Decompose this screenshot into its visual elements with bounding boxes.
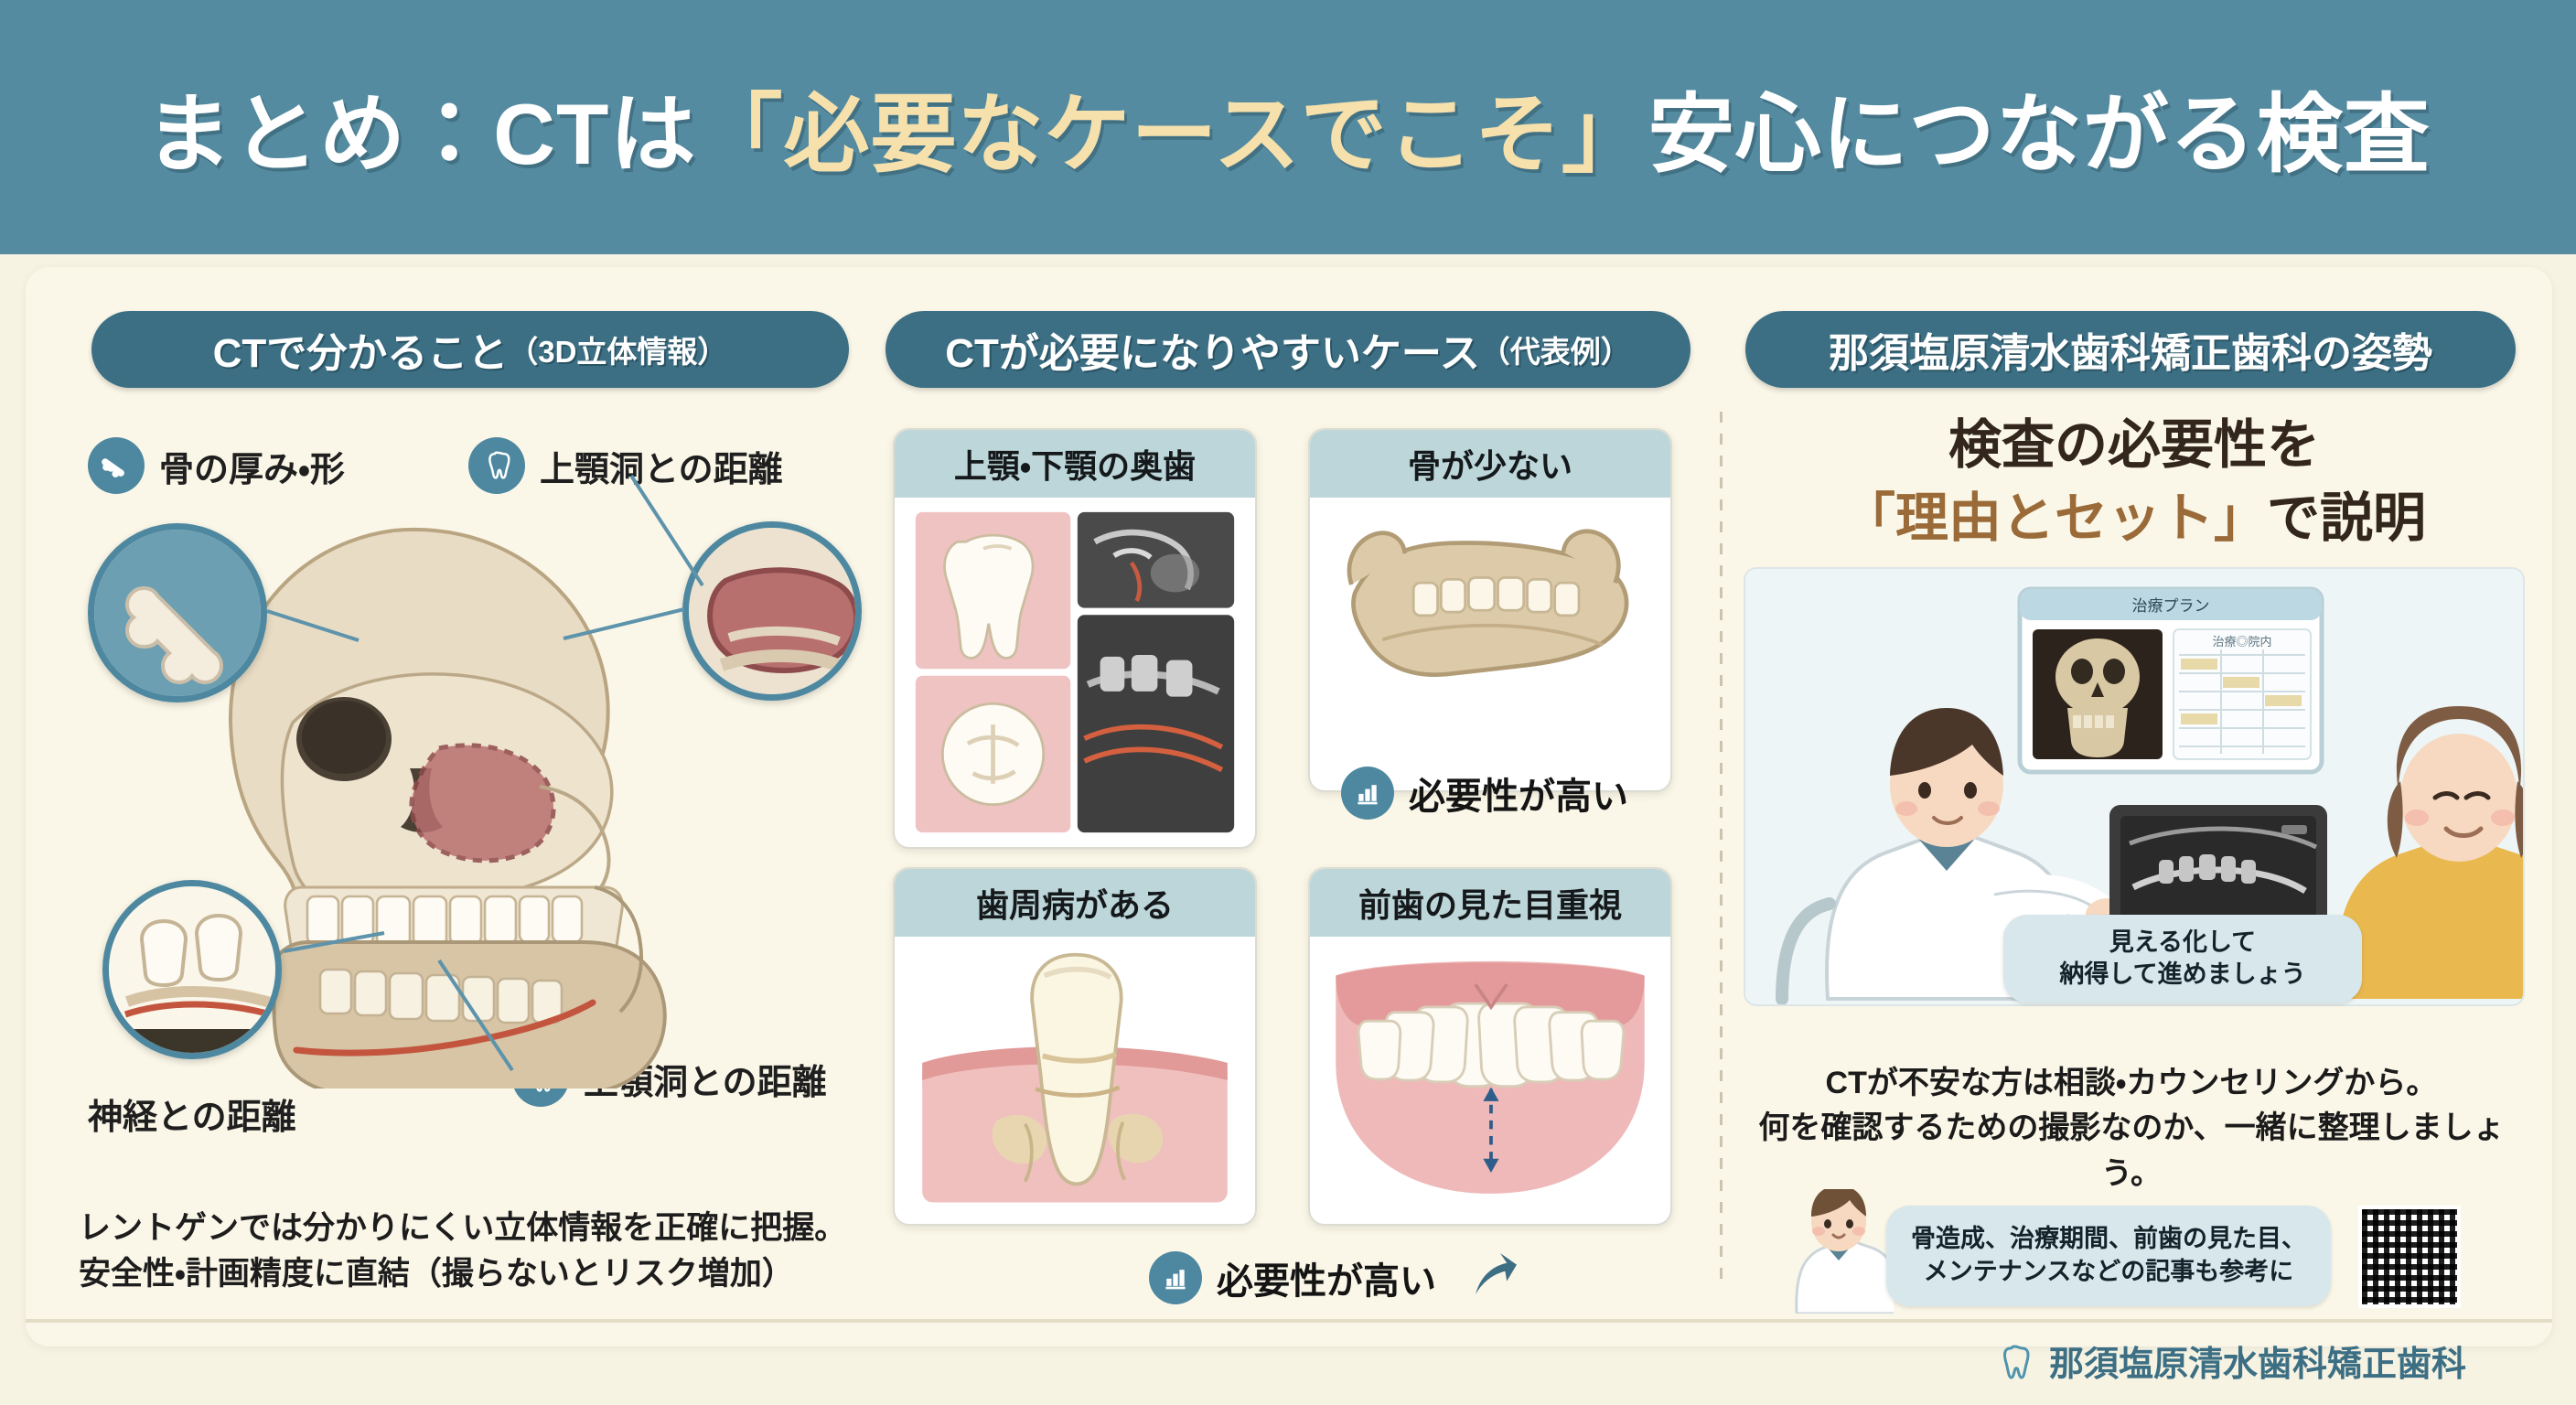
case-card-front-teeth-art: [1310, 937, 1670, 1224]
case-card-periodontal-header: 歯周病がある: [895, 869, 1255, 937]
right-headline-line-2: 「理由とセット」で説明: [1745, 487, 2523, 551]
section-header-left-sub: （3D立体情報）: [508, 327, 727, 371]
left-footer-note: レントゲンでは分かりにくい立体情報を正確に把握。 安全性・計画精度に直結（撮らな…: [79, 1206, 957, 1296]
right-headline-quote: 「理由とセット」: [1842, 488, 2267, 548]
case-card-periodontal-art: [895, 937, 1255, 1224]
section-header-middle-main: CTが必要になりやすいケース: [945, 320, 1479, 379]
qr-code-icon[interactable]: [2358, 1206, 2461, 1308]
case-card-molar-art: [895, 498, 1255, 847]
need-indicator-low-bone: 必要性が高い: [1341, 767, 1628, 820]
case-card-molar-title: 上顎・下顎の奥歯: [954, 440, 1196, 488]
callout-nerve-cross-section: [102, 880, 282, 1059]
label-nerve-distance: 神経との距離: [88, 1089, 296, 1139]
arrow-up-icon: [1467, 1253, 1517, 1303]
bar-chart-icon: [1149, 1251, 1202, 1304]
callout-bone-cross-section: [88, 523, 267, 702]
note-line-2: メンテナンスなどの記事も参考に: [1911, 1256, 2306, 1289]
right-headline-tail: で説明: [2267, 488, 2426, 548]
header-title: まとめ：CTは 「必要なケースでこそ」 安心につながる検査: [145, 65, 2431, 189]
need-indicator-front-teeth: 必要性が高い: [1149, 1251, 1517, 1304]
label-sinus-distance-top-text: 上顎洞との距離: [540, 441, 783, 491]
section-header-left-main: CTで分かること: [213, 320, 509, 379]
tooth-logo-icon: [1994, 1341, 2034, 1381]
brand-name: 那須塩原清水歯科矯正歯科: [2049, 1335, 2466, 1386]
tablet-col-label: 治療◎院内: [2212, 635, 2271, 649]
bar-chart-icon: [1341, 767, 1394, 820]
right-footer-line-1: CTが不安な方は相談・カウンセリングから。: [1729, 1061, 2534, 1106]
right-footer-note: CTが不安な方は相談・カウンセリングから。 何を確認するための撮影なのか、一緒に…: [1729, 1061, 2534, 1196]
section-header-right-main: 那須塩原清水歯科矯正歯科の姿勢: [1829, 320, 2432, 379]
title-part-2: 安心につながる検査: [1648, 65, 2431, 189]
section-header-right: 那須塩原清水歯科矯正歯科の姿勢: [1745, 311, 2516, 388]
page-header: まとめ：CTは 「必要なケースでこそ」 安心につながる検査: [0, 0, 2576, 254]
case-card-low-bone-title: 骨が少ない: [1408, 440, 1572, 488]
case-card-molar-header: 上顎・下顎の奥歯: [895, 430, 1255, 498]
right-headline-line-1: 検査の必要性を: [1745, 413, 2523, 477]
case-card-front-teeth[interactable]: 前歯の見た目重視: [1308, 867, 1672, 1226]
case-card-periodontal-title: 歯周病がある: [976, 879, 1174, 927]
label-sinus-distance-top: 上顎洞との距離: [468, 437, 783, 494]
title-highlight: 「必要なケースでこそ」: [696, 65, 1648, 189]
right-headline: 検査の必要性を 「理由とセット」で説明: [1745, 413, 2523, 550]
case-card-low-bone-header: 骨が少ない: [1310, 430, 1670, 498]
staff-avatar: [1784, 1189, 1894, 1314]
label-nerve-distance-text: 神経との距離: [88, 1089, 296, 1139]
note-line-1: 骨造成、治療期間、前歯の見た目、: [1911, 1223, 2306, 1256]
infographic-page: まとめ：CTは 「必要なケースでこそ」 安心につながる検査 CTで分かること （…: [0, 0, 2576, 1405]
need-indicator-front-teeth-text: 必要性が高い: [1217, 1251, 1436, 1304]
case-card-low-bone-art: [1310, 498, 1670, 790]
left-footer-line-2: 安全性・計画精度に直結（撮らないとリスク増加）: [79, 1251, 957, 1297]
label-bone-thickness-text: 骨の厚み・形: [159, 441, 345, 491]
case-card-periodontal[interactable]: 歯周病がある: [893, 867, 1257, 1226]
case-card-front-teeth-header: 前歯の見た目重視: [1310, 869, 1670, 937]
bone-icon: [88, 437, 145, 494]
tooth-icon: [468, 437, 525, 494]
title-part-1: まとめ：CTは: [145, 65, 696, 189]
column-divider: [1720, 412, 1723, 1290]
footer-divider: [26, 1319, 2552, 1323]
need-indicator-low-bone-text: 必要性が高い: [1409, 767, 1628, 820]
scene-speech-bubble: 見える化して 納得して進めましょう: [2003, 915, 2362, 1003]
monitor: 治療プラン 治療◎院内: [2020, 589, 2322, 772]
section-header-middle-sub: （代表例）: [1480, 327, 1631, 371]
tablet-plan-label: 治療プラン: [2132, 597, 2210, 615]
right-footer-line-2: 何を確認するための撮影なのか、一緒に整理しましょう。: [1729, 1106, 2534, 1196]
label-bone-thickness: 骨の厚み・形: [88, 437, 345, 494]
left-footer-line-1: レントゲンでは分かりにくい立体情報を正確に把握。: [79, 1206, 957, 1251]
scene-bubble-line-2: 納得して進めましょう: [2059, 959, 2305, 991]
case-card-front-teeth-title: 前歯の見た目重視: [1358, 879, 1622, 927]
section-header-left: CTで分かること （3D立体情報）: [91, 311, 849, 388]
section-header-middle: CTが必要になりやすいケース （代表例）: [885, 311, 1690, 388]
case-card-low-bone[interactable]: 骨が少ない: [1308, 428, 1672, 792]
case-card-molar[interactable]: 上顎・下顎の奥歯: [893, 428, 1257, 849]
brand-footer: 那須塩原清水歯科矯正歯科: [1994, 1335, 2466, 1386]
callout-sinus-cross-section: [682, 521, 862, 701]
related-articles-bubble: 骨造成、治療期間、前歯の見た目、 メンテナンスなどの記事も参考に: [1886, 1206, 2331, 1306]
scene-bubble-line-1: 見える化して: [2059, 927, 2305, 959]
